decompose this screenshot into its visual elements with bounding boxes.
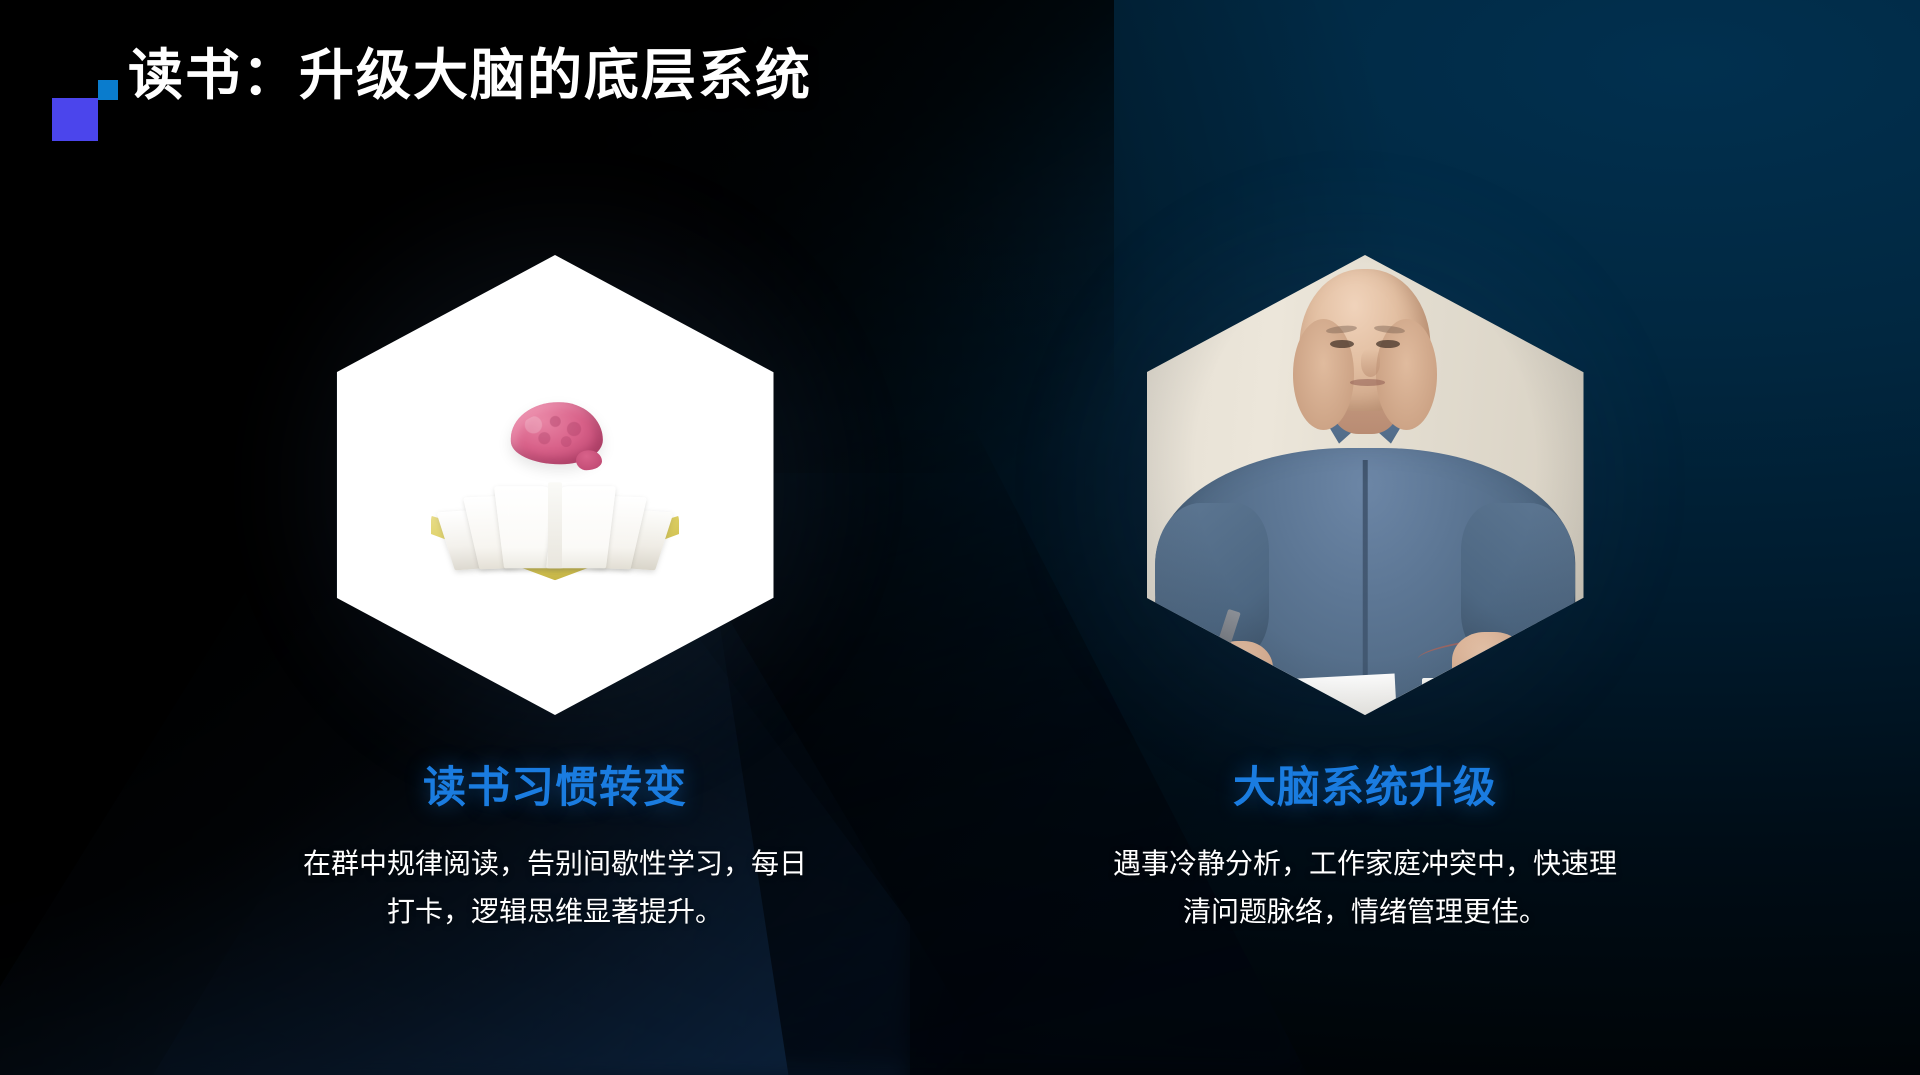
card-brain-system-upgrade: 大脑系统升级 遇事冷静分析，工作家庭冲突中，快速理 清问题脉络，情绪管理更佳。 xyxy=(1085,255,1645,936)
card-body-line: 打卡，逻辑思维显著提升。 xyxy=(205,888,905,936)
book-pages-icon xyxy=(445,476,665,568)
card-body-line: 清问题脉络，情绪管理更佳。 xyxy=(1015,888,1715,936)
slide-canvas: 读书：升级大脑的底层系统 xyxy=(0,0,1920,1075)
card-body-line: 在群中规律阅读，告别间歇性学习，每日 xyxy=(205,840,905,888)
notebook xyxy=(1422,678,1544,710)
book-spine xyxy=(548,482,562,568)
card-body-reading-habit: 在群中规律阅读，告别间歇性学习，每日 打卡，逻辑思维显著提升。 xyxy=(205,840,905,936)
card-heading-reading-habit: 读书习惯转变 xyxy=(423,767,687,810)
hexagon-photo-frame xyxy=(1147,255,1584,715)
elderly-man-writing-photo xyxy=(1147,255,1584,715)
logo-small-square-icon xyxy=(98,80,118,100)
card-body-brain-system-upgrade: 遇事冷静分析，工作家庭冲突中，快速理 清问题脉络，情绪管理更佳。 xyxy=(1015,840,1715,936)
brain-stem-icon xyxy=(576,450,602,470)
logo-mark-icon xyxy=(46,60,118,136)
card-row: 读书习惯转变 在群中规律阅读，告别间歇性学习，每日 打卡，逻辑思维显著提升。 xyxy=(0,255,1920,936)
card-heading-brain-system-upgrade: 大脑系统升级 xyxy=(1233,767,1497,810)
logo-large-square-icon xyxy=(52,98,98,141)
card-reading-habit: 读书习惯转变 在群中规律阅读，告别间歇性学习，每日 打卡，逻辑思维显著提升。 xyxy=(275,255,835,936)
brain-on-open-book-illustration xyxy=(425,402,685,582)
page-title: 读书：升级大脑的底层系统 xyxy=(128,48,812,103)
hexagon-illustration-frame xyxy=(337,255,774,715)
slide-title-row: 读书：升级大脑的底层系统 xyxy=(46,48,812,136)
photo-vignette xyxy=(1147,255,1584,715)
card-body-line: 遇事冷静分析，工作家庭冲突中，快速理 xyxy=(1015,840,1715,888)
